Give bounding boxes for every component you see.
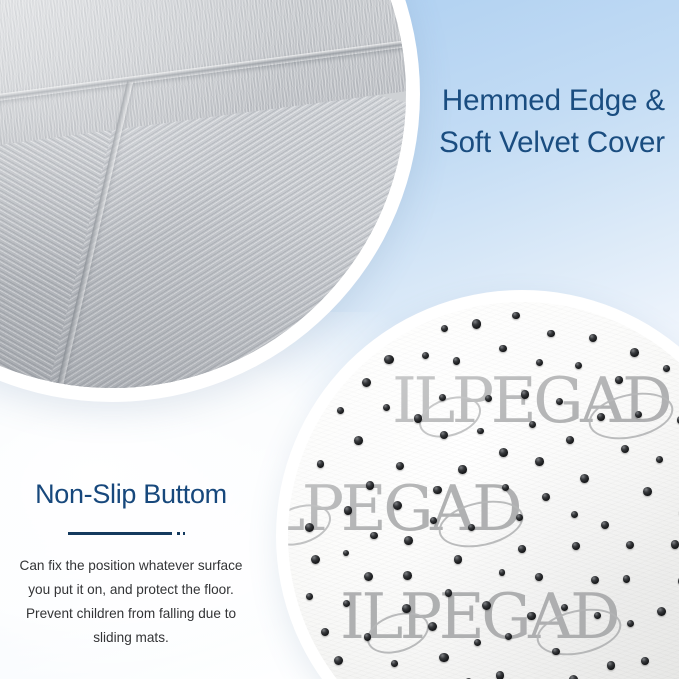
anti-slip-dot	[630, 348, 639, 357]
feature-body-line: Can fix the position whatever surface	[12, 554, 250, 578]
anti-slip-dot	[454, 555, 463, 564]
anti-slip-dot	[458, 465, 466, 473]
feature-block: Non-Slip Buttom Can fix the position wha…	[0, 478, 262, 650]
feature-body-line: sliding mats.	[12, 626, 250, 650]
anti-slip-dot	[626, 541, 634, 549]
anti-slip-dot	[621, 445, 629, 453]
anti-slip-dot	[445, 589, 452, 596]
anti-slip-dot	[317, 460, 324, 467]
divider-line	[68, 532, 172, 535]
anti-slip-dot	[496, 671, 505, 679]
anti-slip-dot	[594, 612, 601, 619]
anti-slip-dot	[384, 355, 393, 364]
anti-slip-dot	[566, 436, 574, 444]
anti-slip-dot	[527, 612, 535, 620]
feature-body-line: you put it on, and protect the floor.	[12, 578, 250, 602]
anti-slip-dot	[521, 390, 530, 399]
anti-slip-dot	[305, 523, 314, 532]
anti-slip-dot	[472, 319, 481, 328]
divider-dot-1	[177, 532, 180, 535]
headline: Hemmed Edge & Soft Velvet Cover	[245, 80, 665, 164]
anti-slip-dot	[518, 545, 526, 553]
anti-slip-dot	[362, 378, 371, 387]
anti-slip-dot	[589, 334, 597, 342]
anti-slip-dot	[512, 312, 519, 319]
anti-slip-dot	[643, 487, 652, 496]
feature-body: Can fix the position whatever surface yo…	[0, 554, 262, 650]
anti-slip-dot	[499, 448, 508, 457]
anti-slip-dot	[569, 675, 578, 679]
divider-dot-2	[183, 532, 186, 535]
anti-slip-dot	[344, 506, 353, 515]
anti-slip-dot	[601, 521, 609, 529]
anti-slip-dot	[571, 511, 578, 518]
anti-slip-dot	[414, 414, 423, 423]
anti-slip-dot	[403, 571, 412, 580]
anti-slip-dot	[430, 517, 437, 524]
anti-slip-dot	[391, 660, 398, 667]
anti-slip-dot	[502, 484, 509, 491]
non-slip-mat-image: ILPEGAD ILPEGAD ILPEGAD	[288, 302, 679, 679]
anti-slip-dot	[607, 661, 615, 669]
mat-shading-overlay	[288, 302, 679, 679]
non-slip-mat-photo-panel: ILPEGAD ILPEGAD ILPEGAD	[276, 290, 679, 679]
anti-slip-dot	[306, 593, 313, 600]
anti-slip-dot	[641, 657, 649, 665]
anti-slip-dot	[485, 395, 492, 402]
anti-slip-dot	[671, 540, 679, 548]
anti-slip-dot	[474, 639, 481, 646]
mat-photo-inner: ILPEGAD ILPEGAD ILPEGAD	[288, 302, 679, 679]
headline-line-1: Hemmed Edge &	[245, 80, 665, 122]
anti-slip-dot	[321, 628, 329, 636]
anti-slip-dot	[656, 456, 663, 463]
anti-slip-dot	[366, 481, 374, 489]
headline-line-2: Soft Velvet Cover	[245, 122, 665, 164]
feature-title: Non-Slip Buttom	[0, 478, 262, 510]
anti-slip-dot	[615, 376, 623, 384]
anti-slip-dot	[439, 653, 448, 662]
anti-slip-dot	[535, 457, 544, 466]
anti-slip-dot	[657, 607, 666, 616]
anti-slip-dot	[556, 398, 563, 405]
anti-slip-dot	[597, 413, 605, 421]
anti-slip-dot	[623, 575, 631, 583]
feature-body-line: Prevent children from falling due to	[12, 602, 250, 626]
anti-slip-dot	[505, 633, 512, 640]
anti-slip-dot	[433, 486, 441, 494]
anti-slip-dot	[402, 604, 411, 613]
anti-slip-dot	[354, 436, 363, 445]
feature-divider	[68, 526, 194, 540]
anti-slip-dot	[499, 345, 506, 352]
anti-slip-dot	[337, 407, 344, 414]
anti-slip-dot	[575, 362, 582, 369]
anti-slip-dot	[547, 330, 555, 338]
anti-slip-dot	[404, 536, 413, 545]
anti-slip-dot	[453, 357, 461, 365]
anti-slip-dot	[535, 573, 543, 581]
